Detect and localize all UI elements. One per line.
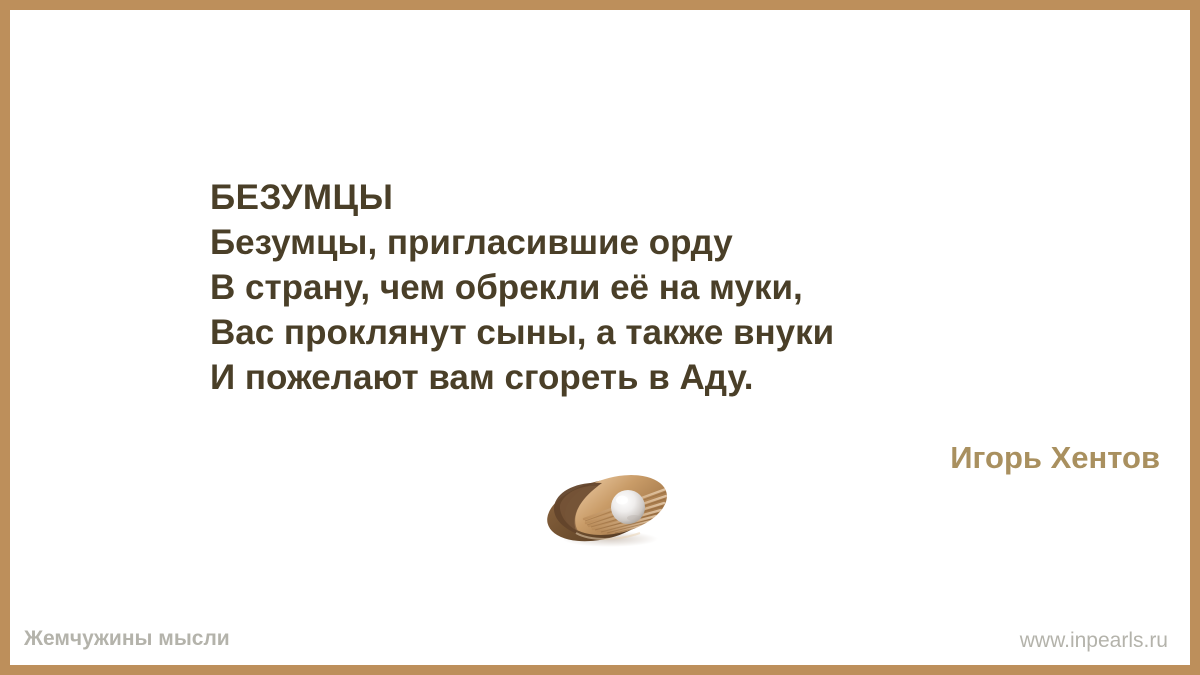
poem-block: БЕЗУМЦЫ Безумцы, пригласившие орду В стр…: [210, 175, 1170, 400]
author-name: Игорь Хентов: [950, 440, 1160, 476]
site-name: Жемчужины мысли: [24, 627, 230, 651]
poem-line-3: Вас проклянут сыны, а также внуки: [210, 310, 1170, 355]
oyster-shell-with-pearl-icon: [540, 465, 680, 550]
page-title: БЕЗУМЦЫ: [210, 175, 1170, 220]
quote-card: БЕЗУМЦЫ Безумцы, пригласившие орду В стр…: [0, 0, 1200, 675]
poem-line-1: Безумцы, пригласившие орду: [210, 220, 1170, 265]
poem-line-2: В страну, чем обрекли её на муки,: [210, 265, 1170, 310]
shell-graphic: [540, 465, 680, 550]
site-url-link[interactable]: www.inpearls.ru: [1020, 629, 1168, 653]
poem-line-4: И пожелают вам сгореть в Аду.: [210, 355, 1170, 400]
